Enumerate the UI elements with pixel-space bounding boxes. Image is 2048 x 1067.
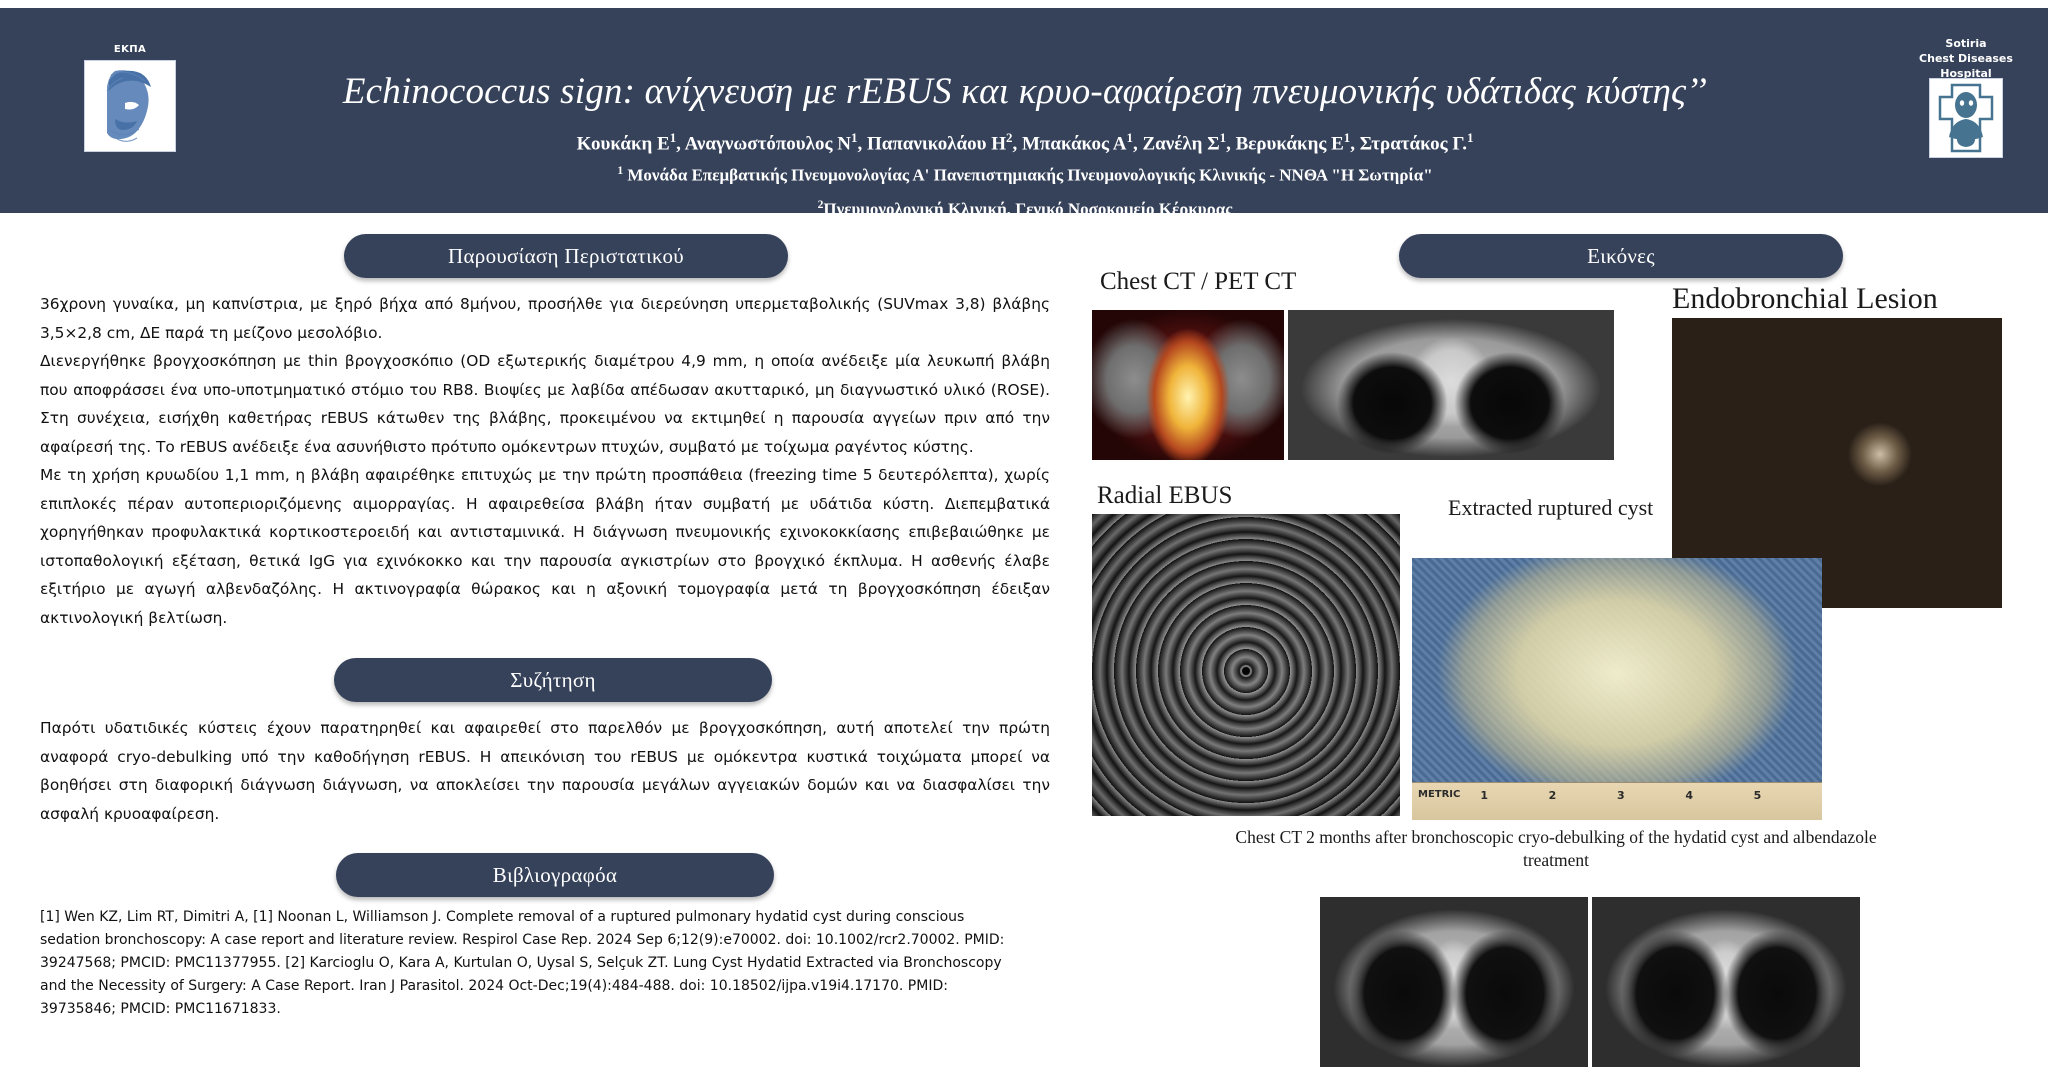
- affiliation-1: 1 Μονάδα Επεμβατικής Πνευμονολογίας Α' Π…: [230, 160, 1820, 187]
- ruler-tick: 5: [1754, 789, 1762, 802]
- case-presentation-text: 36χρονη γυναίκα, μη καπνίστρια, με ξηρό …: [40, 290, 1050, 632]
- discussion-text: Παρότι υδατιδικές κύστεις έχουν παρατηρη…: [40, 714, 1050, 828]
- figure-followup-ct-right-image: [1592, 897, 1860, 1067]
- figure-followup-ct-left-image: [1320, 897, 1588, 1067]
- figure-label-extracted-ruptured-cyst: Extracted ruptured cyst: [1443, 494, 1658, 522]
- text-paragraph: Με τη χρήση κρυωδίου 1,1 mm, η βλάβη αφα…: [40, 461, 1050, 632]
- page-title: Echinococcus sign: ανίχνευση με rEBUS κα…: [230, 70, 1820, 114]
- text-paragraph: Παρότι υδατιδικές κύστεις έχουν παρατηρη…: [40, 714, 1050, 828]
- ruler-tick: 3: [1617, 789, 1625, 802]
- ruler-scale: METRIC 12345: [1412, 782, 1822, 820]
- section-header-discussion: Συζήτηση: [334, 658, 772, 702]
- hospital-logo-label: SotiriaChest DiseasesHospital: [1898, 36, 2034, 81]
- section-header-case-presentation: Παρουσίαση Περιστατικού: [344, 234, 788, 278]
- bibliography-text: [1] Wen KZ, Lim RT, Dimitri A, [1] Noona…: [40, 906, 1015, 1021]
- ebus-catheter-marker-icon: [1240, 665, 1252, 677]
- text-paragraph: 36χρονη γυναίκα, μη καπνίστρια, με ξηρό …: [40, 290, 1050, 347]
- figure-pet-ct-image: [1092, 310, 1284, 460]
- ruler-tick: 2: [1549, 789, 1557, 802]
- logo-label-line: Chest Diseases: [1898, 51, 2034, 66]
- figure-chest-ct-image: [1288, 310, 1614, 460]
- figure-label-radial-ebus: Radial EBUS: [1097, 482, 1232, 510]
- figure-bottom-caption: Chest CT 2 months after bronchoscopic cr…: [1206, 826, 1906, 872]
- figure-label-endobronchial-lesion: Endobronchial Lesion: [1672, 282, 1938, 316]
- figure-label-chest-ct-pet-ct: Chest CT / PET CT: [1100, 268, 1296, 296]
- logo-label-line: Sotiria: [1898, 36, 2034, 51]
- section-header-bibliography: Βιβλιογραφόα: [336, 853, 774, 897]
- authors-line: Κουκάκη Ε1, Αναγνωστόπουλος Ν1, Παπανικο…: [230, 126, 1820, 156]
- athena-head-emblem-icon: [84, 60, 176, 152]
- text-paragraph: Διενεργήθηκε βρογχοσκόπηση με thin βρογχ…: [40, 347, 1050, 461]
- figure-extracted-cyst-image: METRIC 12345: [1412, 558, 1822, 820]
- affiliation-2: 2Πνευμονολογική Κλινική, Γενικό Νοσοκομε…: [230, 194, 1820, 221]
- ruler-tick: 1: [1480, 789, 1488, 802]
- section-header-images: Εικόνες: [1399, 234, 1843, 278]
- university-logo-label: ΕΚΠΑ: [84, 44, 176, 55]
- ruler-tick-group: 12345: [1412, 783, 1822, 820]
- sotiria-hospital-emblem-icon: [1929, 78, 2003, 158]
- figure-radial-ebus-image: [1092, 514, 1400, 816]
- poster-header: ΕΚΠΑ Echinococcus sign: ανίχνευση με rEB…: [0, 8, 2048, 213]
- ruler-tick: 4: [1685, 789, 1693, 802]
- poster-root: ΕΚΠΑ Echinococcus sign: ανίχνευση με rEB…: [0, 0, 2048, 1067]
